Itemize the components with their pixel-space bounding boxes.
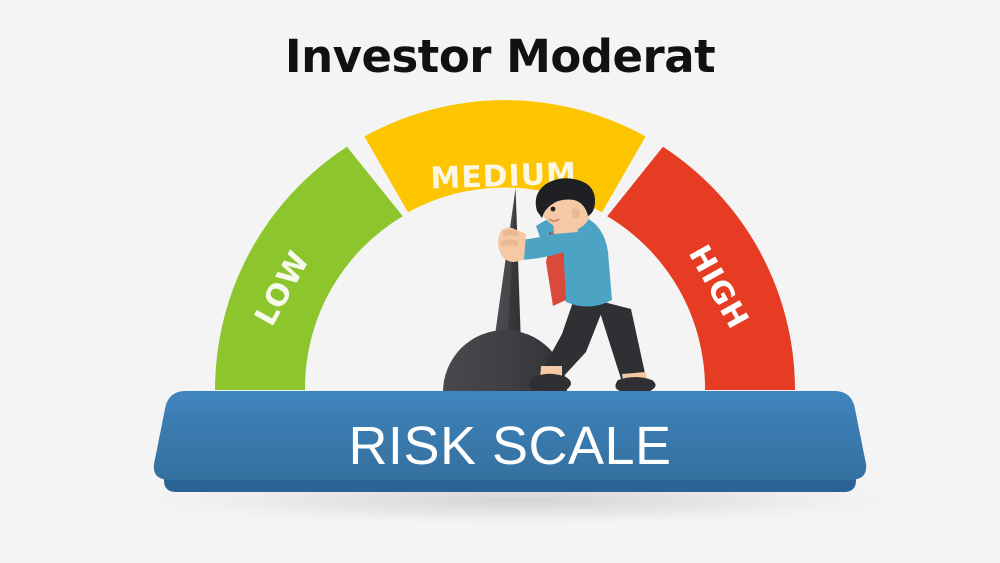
figure-front-leg: [541, 296, 605, 378]
gauge-segment-medium[interactable]: [364, 100, 645, 212]
figure-back-shoe: [615, 377, 655, 391]
risk-scale-infographic: Investor Moderat: [0, 0, 1000, 563]
figure-eye: [551, 207, 556, 212]
risk-gauge-graphic: LOW MEDIUM HIGH: [0, 0, 1000, 563]
banner-highlight: [165, 391, 855, 412]
figure-back-leg: [596, 300, 646, 382]
